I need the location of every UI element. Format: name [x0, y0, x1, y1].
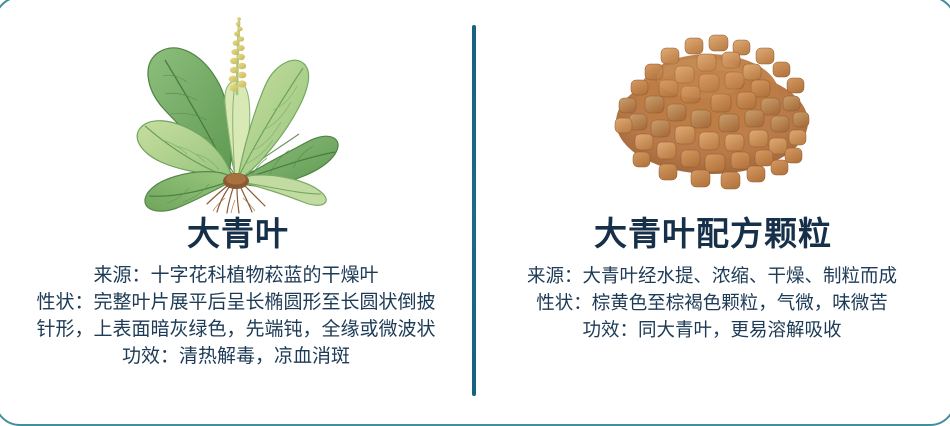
- description-line: 功效：同大青叶，更易溶解吸收: [486, 316, 938, 343]
- panel-title: 大青叶配方颗粒: [594, 217, 832, 250]
- herb-image-area: [0, 0, 472, 215]
- description-line: 来源：十字花科植物菘蓝的干燥叶: [10, 262, 462, 289]
- daqingye-plant-illustration: [121, 2, 351, 214]
- panel-granules: 大青叶配方颗粒 来源：大青叶经水提、浓缩、干燥、制粒而成 性状：棕黄色至棕褐色颗…: [476, 0, 948, 422]
- description-line: 针形，上表面暗灰绿色，先端钝，全缘或微波状: [10, 316, 462, 343]
- panel-description: 来源：大青叶经水提、浓缩、干燥、制粒而成 性状：棕黄色至棕褐色颗粒，气微，味微苦…: [486, 262, 938, 343]
- panel-herb: 大青叶 来源：十字花科植物菘蓝的干燥叶 性状：完整叶片展平后呈长椭圆形至长圆状倒…: [0, 0, 472, 422]
- comparison-card: 大青叶 来源：十字花科植物菘蓝的干燥叶 性状：完整叶片展平后呈长椭圆形至长圆状倒…: [0, 0, 950, 422]
- description-line: 功效：清热解毒，凉血消斑: [10, 343, 462, 370]
- description-line: 性状：完整叶片展平后呈长椭圆形至长圆状倒披: [10, 289, 462, 316]
- panel-title: 大青叶: [187, 217, 289, 250]
- description-line: 来源：大青叶经水提、浓缩、干燥、制粒而成: [486, 262, 938, 289]
- daqingye-granules-photo: [593, 18, 831, 198]
- description-line: 性状：棕黄色至棕褐色颗粒，气微，味微苦: [486, 289, 938, 316]
- granules-image-area: [476, 0, 948, 215]
- panel-description: 来源：十字花科植物菘蓝的干燥叶 性状：完整叶片展平后呈长椭圆形至长圆状倒披 针形…: [10, 262, 462, 370]
